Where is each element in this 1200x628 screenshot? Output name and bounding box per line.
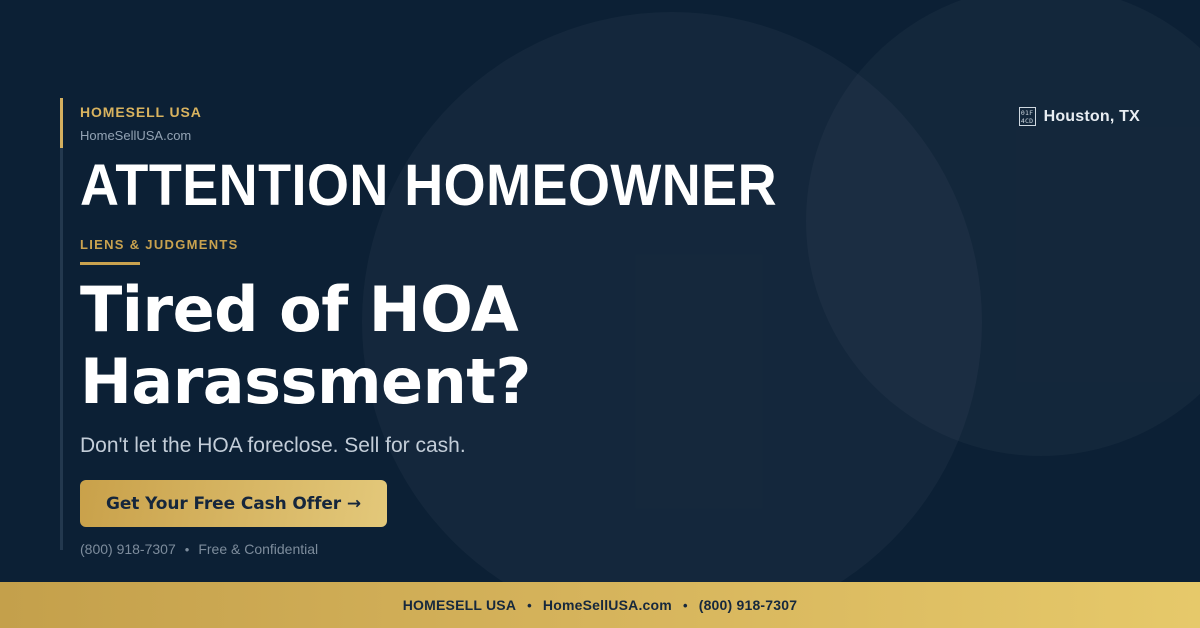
footer-content: HOMESELL USA • HomeSellUSA.com • (800) 9… xyxy=(403,597,798,613)
brand-row: HOMESELL USA HomeSellUSA.com 01F 4CD Hou… xyxy=(80,105,1140,142)
location-label: Houston, TX xyxy=(1044,108,1140,126)
trust-note: Free & Confidential xyxy=(198,542,318,556)
brand-block: HOMESELL USA HomeSellUSA.com xyxy=(80,105,202,142)
attention-headline: ATTENTION HOMEOWNER xyxy=(80,157,777,215)
map-pin-icon: 01F 4CD xyxy=(1019,107,1036,126)
left-accent-rail xyxy=(60,98,63,550)
trust-phone[interactable]: (800) 918-7307 xyxy=(80,542,176,556)
ad-content: HOMESELL USA HomeSellUSA.com 01F 4CD Hou… xyxy=(80,0,1120,582)
advertisement-banner: HOMESELL USA HomeSellUSA.com 01F 4CD Hou… xyxy=(0,0,1200,628)
footer-separator-2: • xyxy=(683,598,688,613)
footer-phone[interactable]: (800) 918-7307 xyxy=(699,597,798,613)
footer-brand: HOMESELL USA xyxy=(403,597,516,613)
eyebrow-underline xyxy=(80,262,140,265)
trust-separator: • xyxy=(185,543,190,556)
footer-separator-1: • xyxy=(527,598,532,613)
brand-website: HomeSellUSA.com xyxy=(80,129,202,142)
location-badge: 01F 4CD Houston, TX xyxy=(1019,107,1140,126)
footer-bar: HOMESELL USA • HomeSellUSA.com • (800) 9… xyxy=(0,582,1200,628)
footer-website[interactable]: HomeSellUSA.com xyxy=(543,597,672,613)
map-pin-icon-codepoint-high: 01F xyxy=(1021,109,1033,117)
cta-button[interactable]: Get Your Free Cash Offer → xyxy=(80,480,387,527)
brand-name: HOMESELL USA xyxy=(80,105,202,119)
main-headline: Tired of HOA Harassment? xyxy=(80,274,700,418)
left-accent-rail-gold-segment xyxy=(60,98,63,148)
trust-line: (800) 918-7307 • Free & Confidential xyxy=(80,542,318,556)
map-pin-icon-codepoint-low: 4CD xyxy=(1021,117,1033,125)
subheadline: Don't let the HOA foreclose. Sell for ca… xyxy=(80,435,466,456)
eyebrow-label: LIENS & JUDGMENTS xyxy=(80,238,239,251)
